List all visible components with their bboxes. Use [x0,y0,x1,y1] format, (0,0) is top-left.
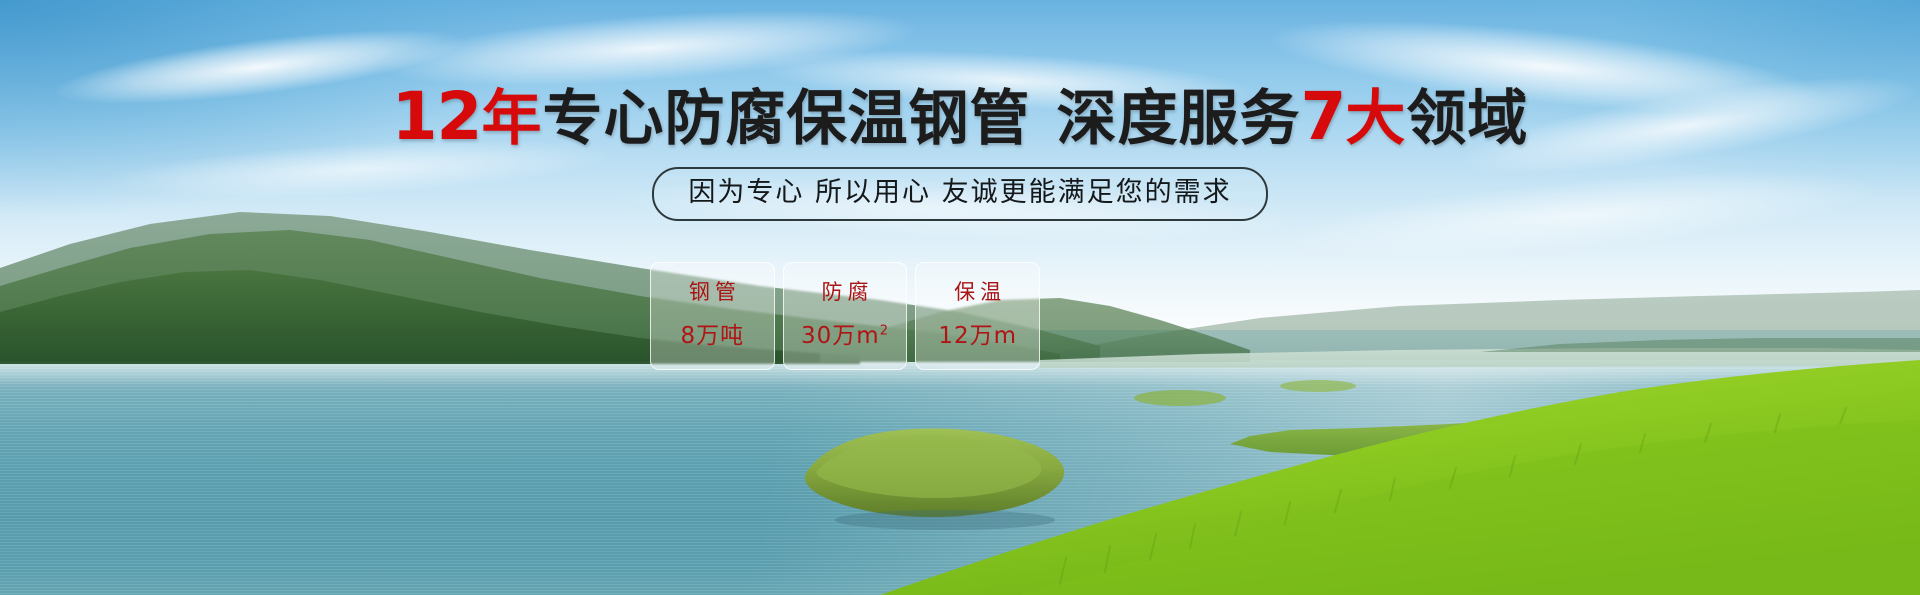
stat-card-anticorrosion: 防腐 30万m2 [783,262,908,370]
stat-card-value-superscript: 2 [880,323,889,338]
stat-card-steel-pipe: 钢管 8万吨 [650,262,775,370]
stat-card-value: 12万m [938,323,1017,349]
stat-card-value-text: 8万吨 [681,323,745,349]
subtitle-pill: 因为专心 所以用心 友诚更能满足您的需求 [652,167,1267,221]
stat-card-value-text: 30万m [801,323,880,349]
headline-main-segment: 专心防腐保温钢管 [542,84,1030,154]
headline-service-segment: 深度服务 [1056,84,1300,154]
stat-card-value-text: 12万m [938,323,1017,349]
hero-banner: 12年专心防腐保温钢管深度服务7大领域 因为专心 所以用心 友诚更能满足您的需求… [0,0,1920,595]
stat-card-label: 防腐 [817,280,874,304]
stat-card-value: 30万m2 [801,323,889,349]
stat-card-insulation: 保温 12万m [915,262,1040,370]
headline-years-unit: 年 [481,84,542,154]
subtitle-container: 因为专心 所以用心 友诚更能满足您的需求 [0,167,1920,221]
stat-card-value: 8万吨 [681,323,745,349]
stat-card-label: 钢管 [684,280,741,304]
headline-highlight-unit: 大 [1345,84,1406,154]
headline-tail-segment: 领域 [1406,84,1528,154]
headline-highlight-number: 7 [1300,78,1345,155]
headline: 12年专心防腐保温钢管深度服务7大领域 [0,84,1920,152]
headline-years-number: 12 [392,78,482,155]
far-islet-2 [1280,380,1356,392]
stat-cards: 钢管 8万吨 防腐 30万m2 保温 12万m [650,262,1040,370]
stat-card-label: 保温 [949,280,1006,304]
far-islet-1 [1134,390,1226,406]
island-reflection [835,510,1055,530]
